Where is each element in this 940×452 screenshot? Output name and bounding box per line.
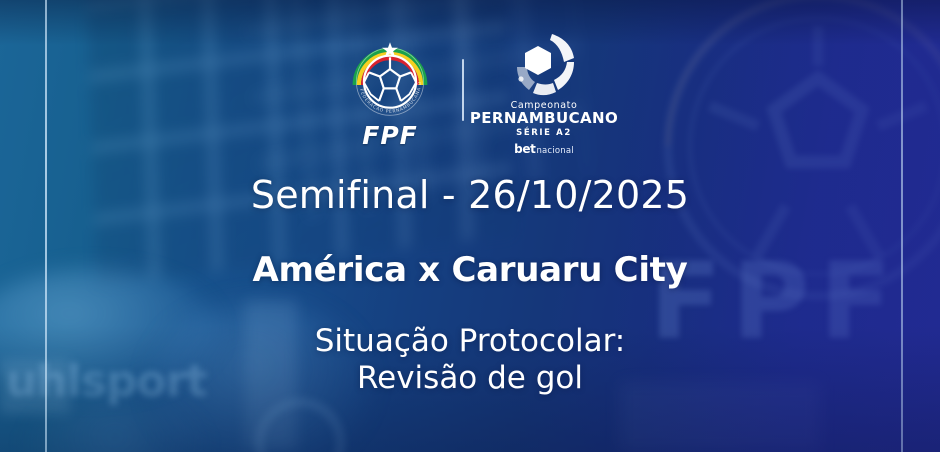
protocol-status-value: Revisão de gol: [0, 360, 940, 397]
logo-bar: FEDERACAO PERNAMBUCANA DE FUTEBOL FPF Ca…: [0, 32, 940, 156]
logo-divider: [462, 59, 464, 121]
fpf-crest-icon: FEDERACAO PERNAMBUCANA DE FUTEBOL: [348, 38, 432, 122]
federation-logo: FEDERACAO PERNAMBUCANA DE FUTEBOL FPF: [342, 38, 438, 150]
sponsor-name: nacional: [536, 146, 573, 156]
championship-logo: Campeonato PERNAMBUCANO SÉRIE A2 bet nac…: [490, 32, 598, 156]
championship-line-2: PERNAMBUCANO: [470, 111, 618, 127]
protocol-status-label: Situação Protocolar:: [0, 323, 940, 360]
content-block: Semifinal - 26/10/2025 América x Caruaru…: [0, 176, 940, 397]
protocol-status: Situação Protocolar: Revisão de gol: [0, 323, 940, 397]
sponsor-logo: bet nacional: [514, 142, 574, 156]
round-and-date: Semifinal - 26/10/2025: [0, 176, 940, 216]
match-status-graphic: uhlsport FPF: [0, 0, 940, 452]
match-title: América x Caruaru City: [0, 253, 940, 289]
championship-line-3: SÉRIE A2: [516, 128, 572, 138]
campeonato-pernambucano-mark-icon: [512, 32, 576, 98]
fpf-wordmark: FPF: [362, 123, 417, 148]
sponsor-mark: bet: [514, 142, 535, 156]
